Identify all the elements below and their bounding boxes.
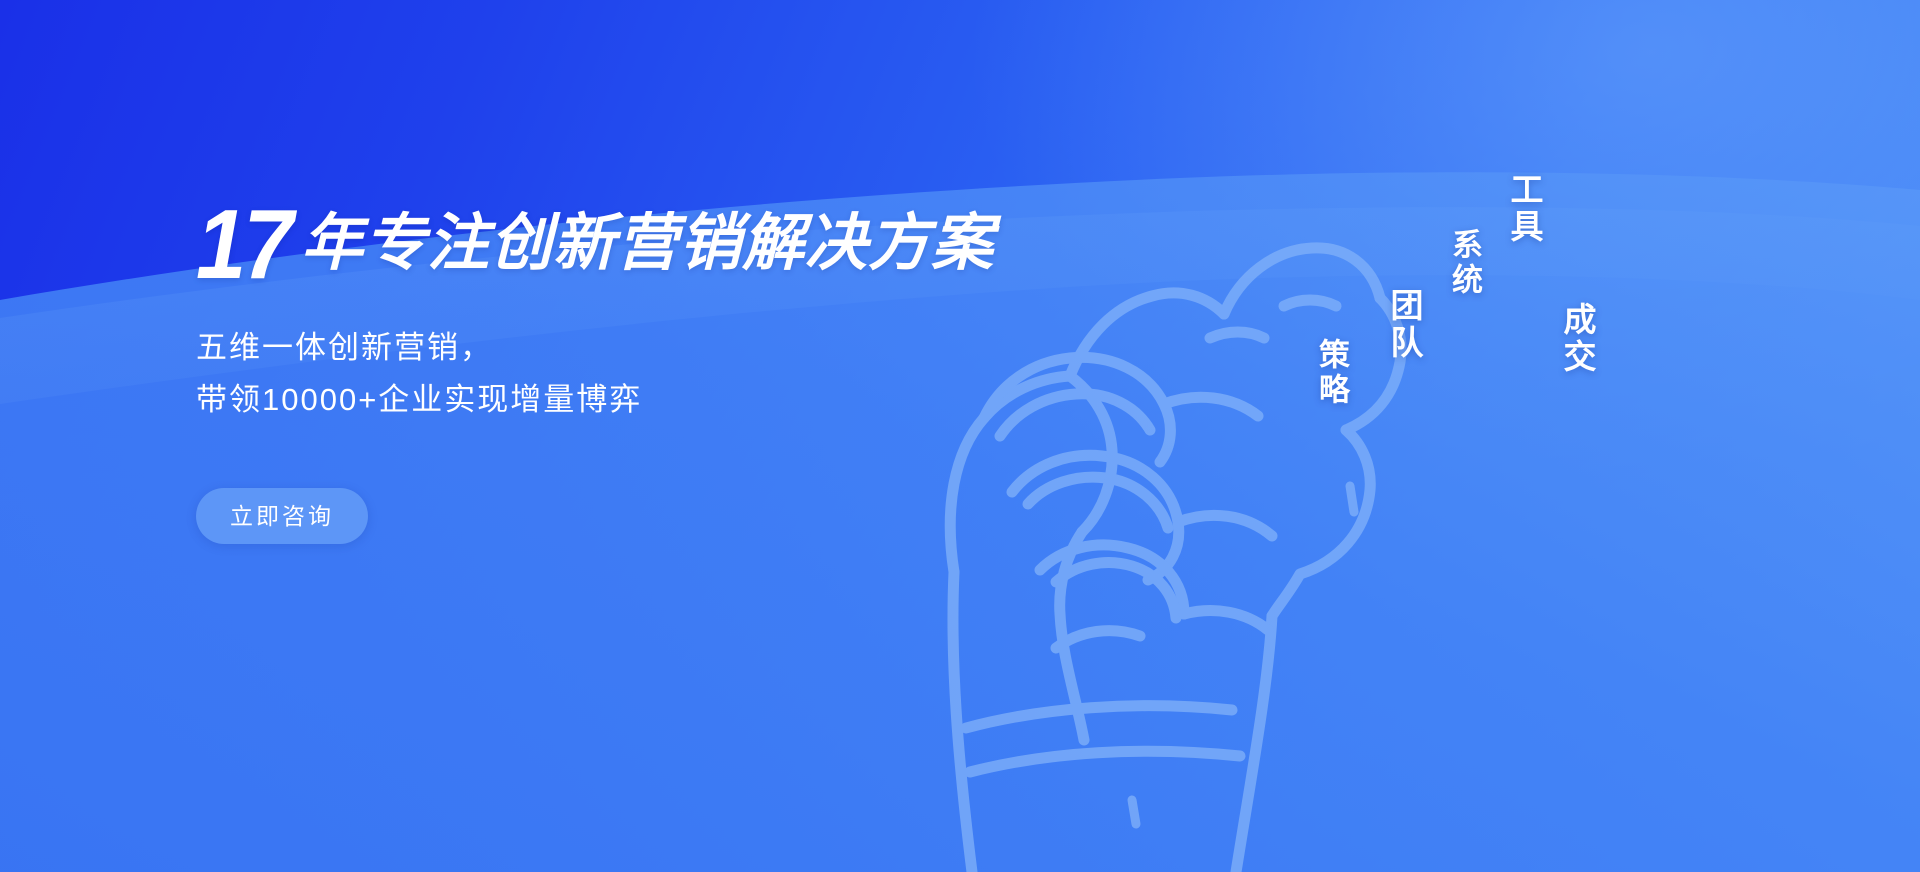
page-title: 17年专注创新营销解决方案 [196, 196, 976, 292]
illustration-label-chengjiao: 成交 [1553, 302, 1601, 376]
hero-banner: 17年专注创新营销解决方案 五维一体创新营销， 带领10000+企业实现增量博弈… [0, 0, 1920, 872]
consult-now-button[interactable]: 立即咨询 [196, 488, 368, 544]
illustration-label-gongju: 工具 [1500, 172, 1548, 246]
illustration-label-celve: 策略 [1309, 338, 1354, 408]
headline-number: 17 [196, 196, 291, 292]
hero-copy: 17年专注创新营销解决方案 五维一体创新营销， 带领10000+企业实现增量博弈… [196, 196, 976, 544]
illustration-label-tuandui: 团队 [1380, 288, 1428, 362]
subtitle-line-1: 五维一体创新营销， [196, 322, 976, 374]
headline-text: 年专注创新营销解决方案 [301, 196, 994, 292]
hero-subtitle: 五维一体创新营销， 带领10000+企业实现增量博弈 [196, 322, 976, 426]
subtitle-line-2: 带领10000+企业实现增量博弈 [196, 374, 976, 426]
illustration-label-xitong: 系统 [1442, 228, 1487, 298]
